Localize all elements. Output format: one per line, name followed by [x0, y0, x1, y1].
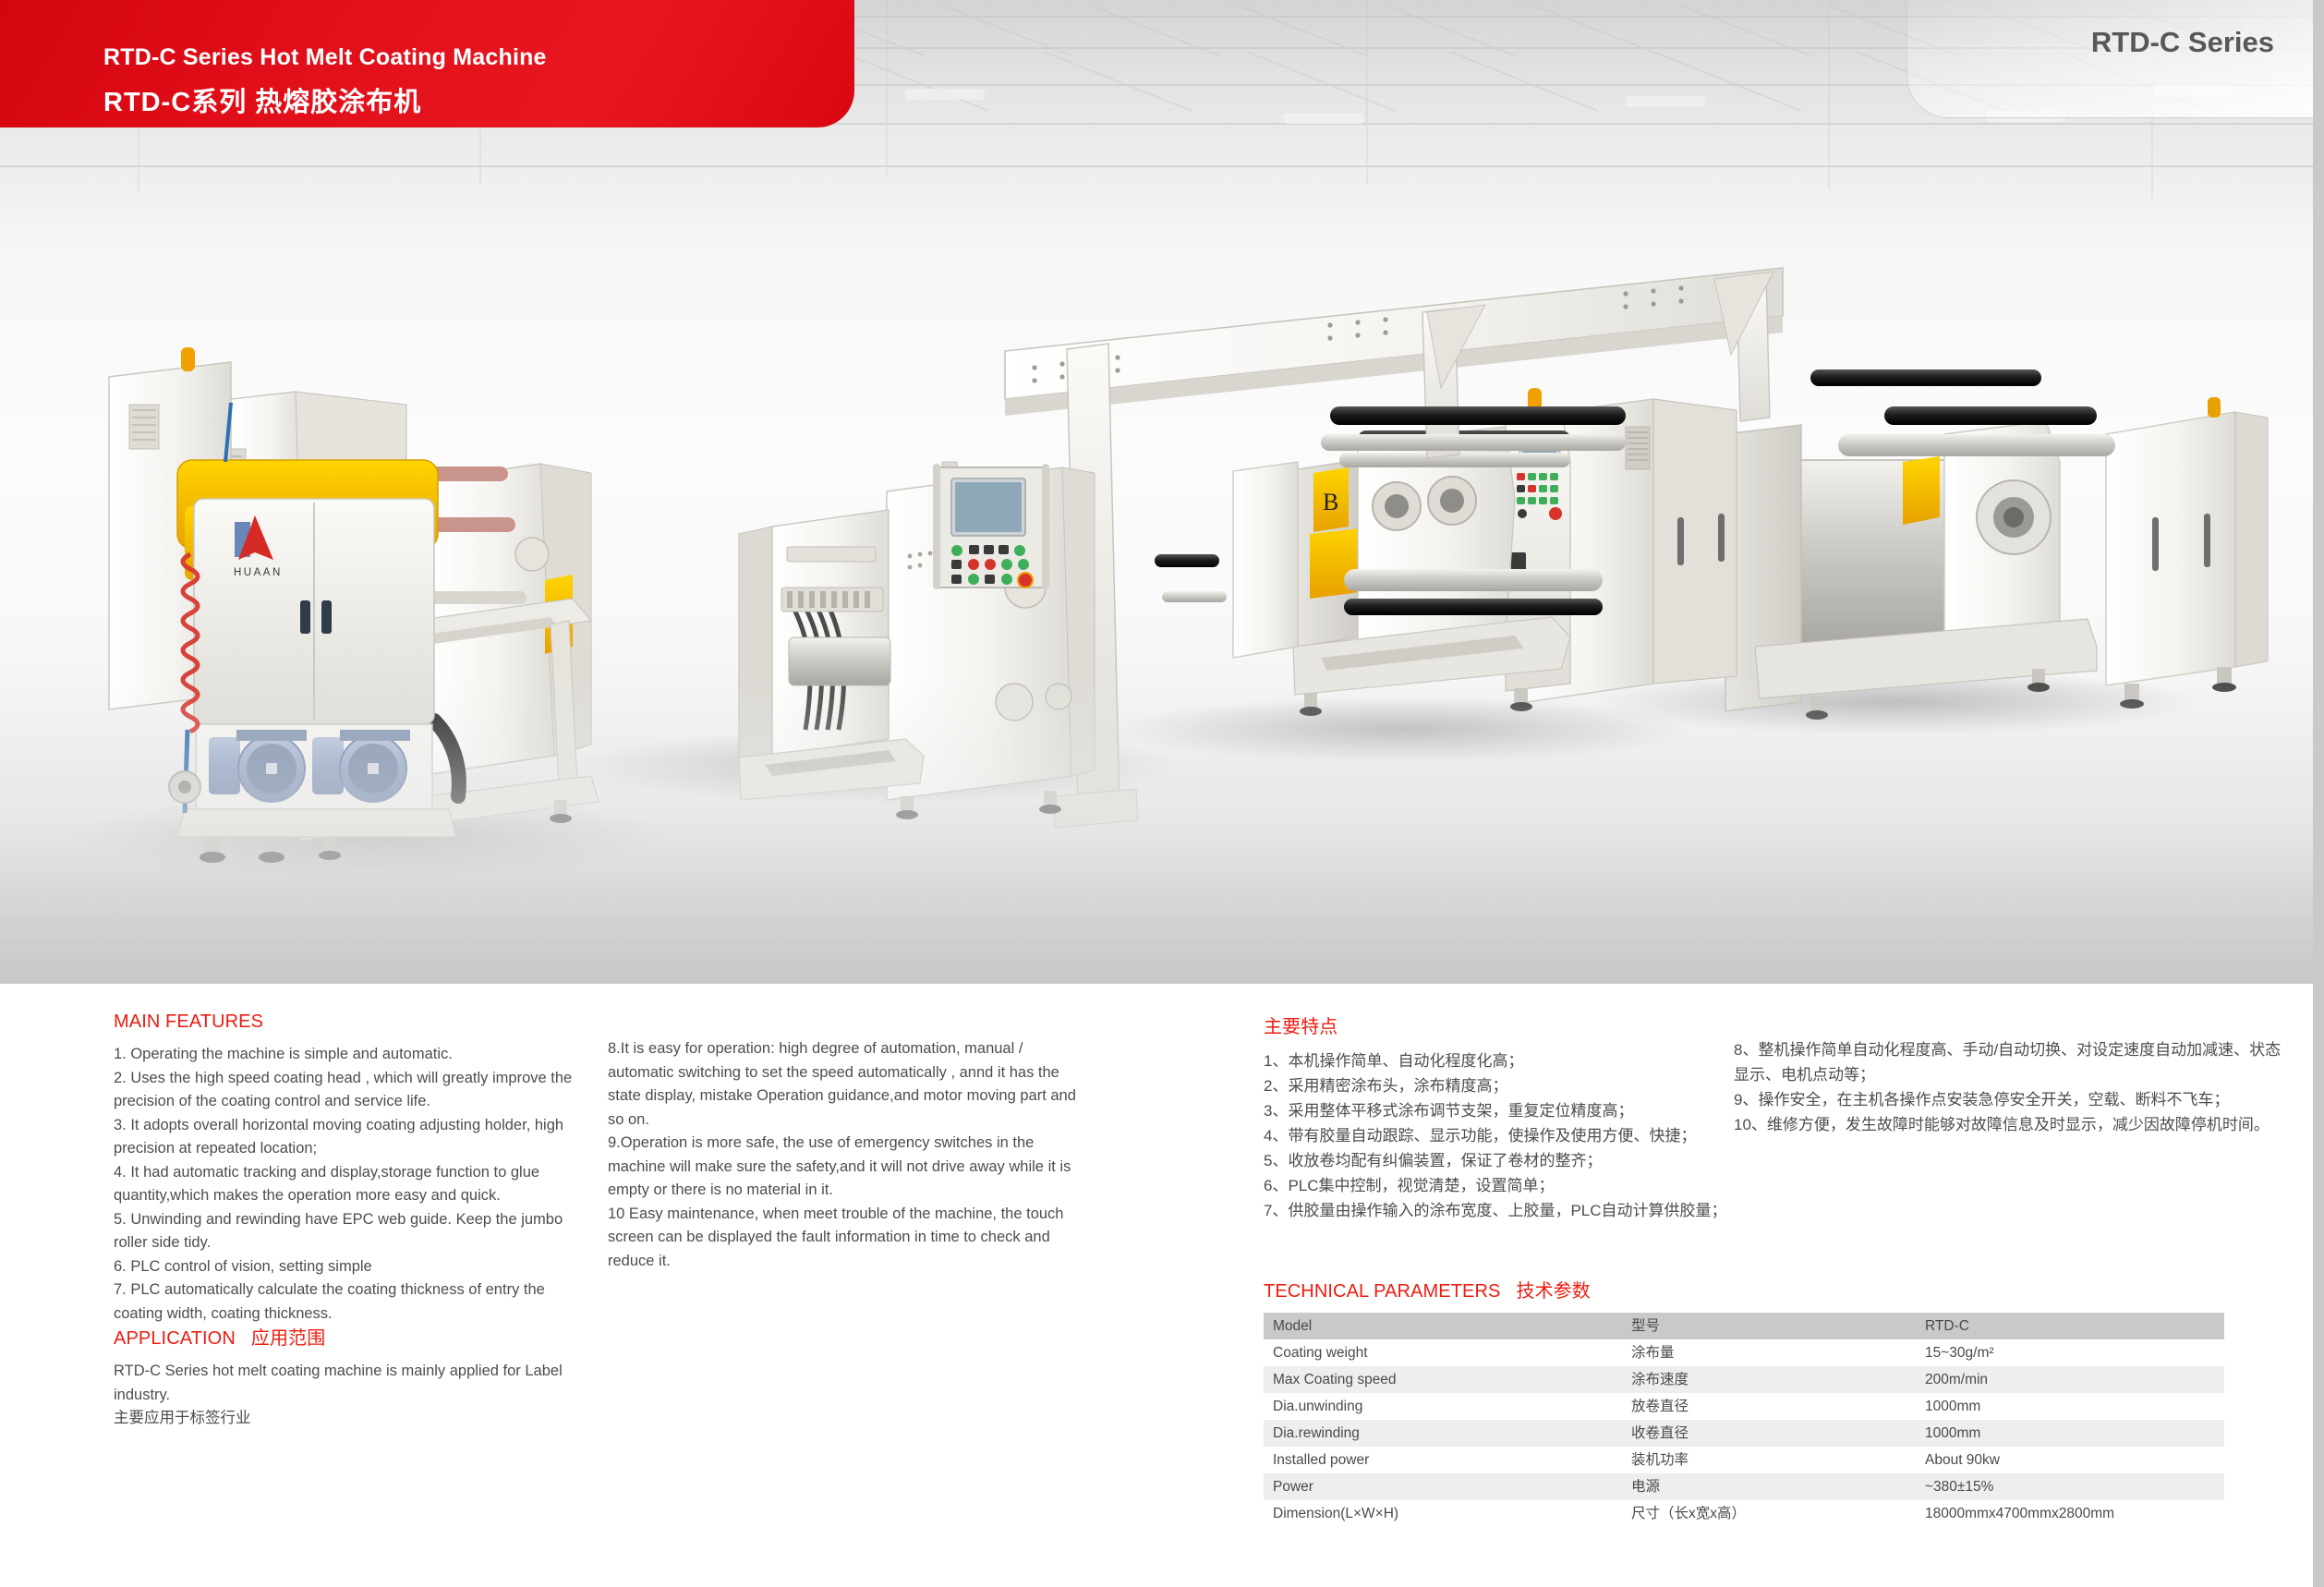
param-name-cn: 装机功率	[1622, 1447, 1916, 1473]
tech-heading-cn: 技术参数	[1517, 1281, 1591, 1302]
param-name-cn: 放卷直径	[1622, 1393, 1916, 1420]
application-heading-cn: 应用范围	[251, 1328, 325, 1349]
title-chinese: RTD-C系列 热熔胶涂布机	[103, 80, 421, 119]
table-row: Dia.unwinding 放卷直径 1000mm	[1264, 1393, 2224, 1420]
column-header-model-en: Model	[1264, 1313, 1622, 1339]
main-features-column-1: MAIN FEATURES 1. Operating the machine i…	[114, 1012, 594, 1326]
feature-item: 8.It is easy for operation: high degree …	[608, 1037, 1088, 1132]
table-header-row: Model 型号 RTD-C	[1264, 1313, 2224, 1339]
param-value: About 90kw	[1916, 1447, 2224, 1473]
feature-cn-item: 6、PLC集中控制，视觉清楚，设置简单；	[1264, 1173, 1855, 1198]
param-name-cn: 收卷直径	[1622, 1420, 1916, 1447]
feature-cn-item: 10、维修方便，发生故障时能够对故障信息及时显示，减少因故障停机时间。	[1734, 1112, 2288, 1137]
param-name-en: Dimension(L×W×H)	[1264, 1500, 1622, 1527]
feature-cn-item: 5、收放卷均配有纠偏装置，保证了卷材的整齐；	[1264, 1148, 1855, 1173]
feature-item: 4. It had automatic tracking and display…	[114, 1161, 594, 1208]
param-name-cn: 尺寸（长x宽x高）	[1622, 1500, 1916, 1527]
features-cn-heading: 主要特点	[1264, 1012, 1855, 1038]
param-value: 15~30g/m²	[1916, 1339, 2224, 1366]
rewind-unit	[1725, 397, 2268, 720]
feature-item: 10 Easy maintenance, when meet trouble o…	[608, 1203, 1088, 1274]
param-name-en: Installed power	[1264, 1447, 1622, 1473]
param-name-en: Dia.rewinding	[1264, 1420, 1622, 1447]
brochure-page: B	[0, 0, 2324, 1587]
table-row: Power 电源 ~380±15%	[1264, 1473, 2224, 1500]
param-value: ~380±15%	[1916, 1473, 2224, 1500]
title-english: RTD-C Series Hot Melt Coating Machine	[103, 44, 547, 71]
page-edge-right	[2313, 0, 2324, 1587]
application-text-en: RTD-C Series hot melt coating machine is…	[114, 1360, 594, 1407]
main-features-heading: MAIN FEATURES	[114, 1012, 594, 1033]
param-name-en: Max Coating speed	[1264, 1366, 1622, 1393]
svg-text:B: B	[1323, 489, 1338, 515]
features-cn-column-2: 8、整机操作简单自动化程度高、手动/自动切换、对设定速度自动加减速、状态显示、电…	[1734, 1037, 2288, 1137]
column-header-model-value: RTD-C	[1916, 1313, 2224, 1339]
application-heading-en: APPLICATION	[114, 1328, 236, 1349]
param-name-cn: 涂布速度	[1622, 1366, 1916, 1393]
feature-item: 7. PLC automatically calculate the coati…	[114, 1278, 594, 1326]
param-name-en: Dia.unwinding	[1264, 1393, 1622, 1420]
column-header-model-cn: 型号	[1622, 1313, 1916, 1339]
feature-cn-item: 9、操作安全，在主机各操作点安装急停安全开关，空载、断料不飞车；	[1734, 1087, 2288, 1112]
feature-item: 1. Operating the machine is simple and a…	[114, 1043, 594, 1067]
table-row: Max Coating speed 涂布速度 200m/min	[1264, 1366, 2224, 1393]
param-value: 1000mm	[1916, 1393, 2224, 1420]
svg-text:HUAAN: HUAAN	[234, 567, 283, 578]
series-tab: RTD-C Series	[1906, 0, 2313, 118]
table-row: Installed power 装机功率 About 90kw	[1264, 1447, 2224, 1473]
floor-gradient	[0, 679, 2313, 984]
table-row: Coating weight 涂布量 15~30g/m²	[1264, 1339, 2224, 1366]
feature-item: 3. It adopts overall horizontal moving c…	[114, 1114, 594, 1161]
param-value: 18000mmx4700mmx2800mm	[1916, 1500, 2224, 1527]
feature-item: 5. Unwinding and rewinding have EPC web …	[114, 1208, 594, 1255]
main-features-column-2: 8.It is easy for operation: high degree …	[608, 1037, 1088, 1273]
table-row: Dimension(L×W×H) 尺寸（长x宽x高） 18000mmx4700m…	[1264, 1500, 2224, 1527]
content-area: MAIN FEATURES 1. Operating the machine i…	[0, 984, 2313, 1587]
title-banner: RTD-C Series Hot Melt Coating Machine RT…	[0, 0, 854, 127]
product-photo: B	[0, 0, 2313, 984]
param-value: 1000mm	[1916, 1420, 2224, 1447]
tech-heading-en: TECHNICAL PARAMETERS	[1264, 1281, 1500, 1302]
small-rollers	[1155, 554, 1227, 602]
feature-item: 6. PLC control of vision, setting simple	[114, 1255, 594, 1279]
application-text-cn: 主要应用于标签行业	[114, 1407, 594, 1431]
technical-parameters-heading: TECHNICAL PARAMETERS 技术参数	[1264, 1276, 2224, 1302]
technical-parameters-table: Model 型号 RTD-C Coating weight 涂布量 15~30g…	[1264, 1313, 2224, 1527]
param-value: 200m/min	[1916, 1366, 2224, 1393]
application-heading: APPLICATION 应用范围	[114, 1323, 594, 1350]
param-name-en: Coating weight	[1264, 1339, 1622, 1366]
feature-cn-item: 7、供胶量由操作输入的涂布宽度、上胶量，PLC自动计算供胶量；	[1264, 1198, 1855, 1223]
feature-cn-item: 8、整机操作简单自动化程度高、手动/自动切换、对设定速度自动加减速、状态显示、电…	[1734, 1037, 2288, 1087]
feature-item: 9.Operation is more safe, the use of eme…	[608, 1132, 1088, 1203]
param-name-en: Power	[1264, 1473, 1622, 1500]
param-name-cn: 涂布量	[1622, 1339, 1916, 1366]
series-tab-label: RTD-C Series	[2091, 26, 2274, 59]
table-row: Dia.rewinding 收卷直径 1000mm	[1264, 1420, 2224, 1447]
feature-item: 2. Uses the high speed coating head , wh…	[114, 1067, 594, 1114]
application-section: APPLICATION 应用范围 RTD-C Series hot melt c…	[114, 1323, 594, 1431]
technical-parameters-section: TECHNICAL PARAMETERS 技术参数 Model 型号 RTD-C…	[1264, 1276, 2224, 1527]
param-name-cn: 电源	[1622, 1473, 1916, 1500]
